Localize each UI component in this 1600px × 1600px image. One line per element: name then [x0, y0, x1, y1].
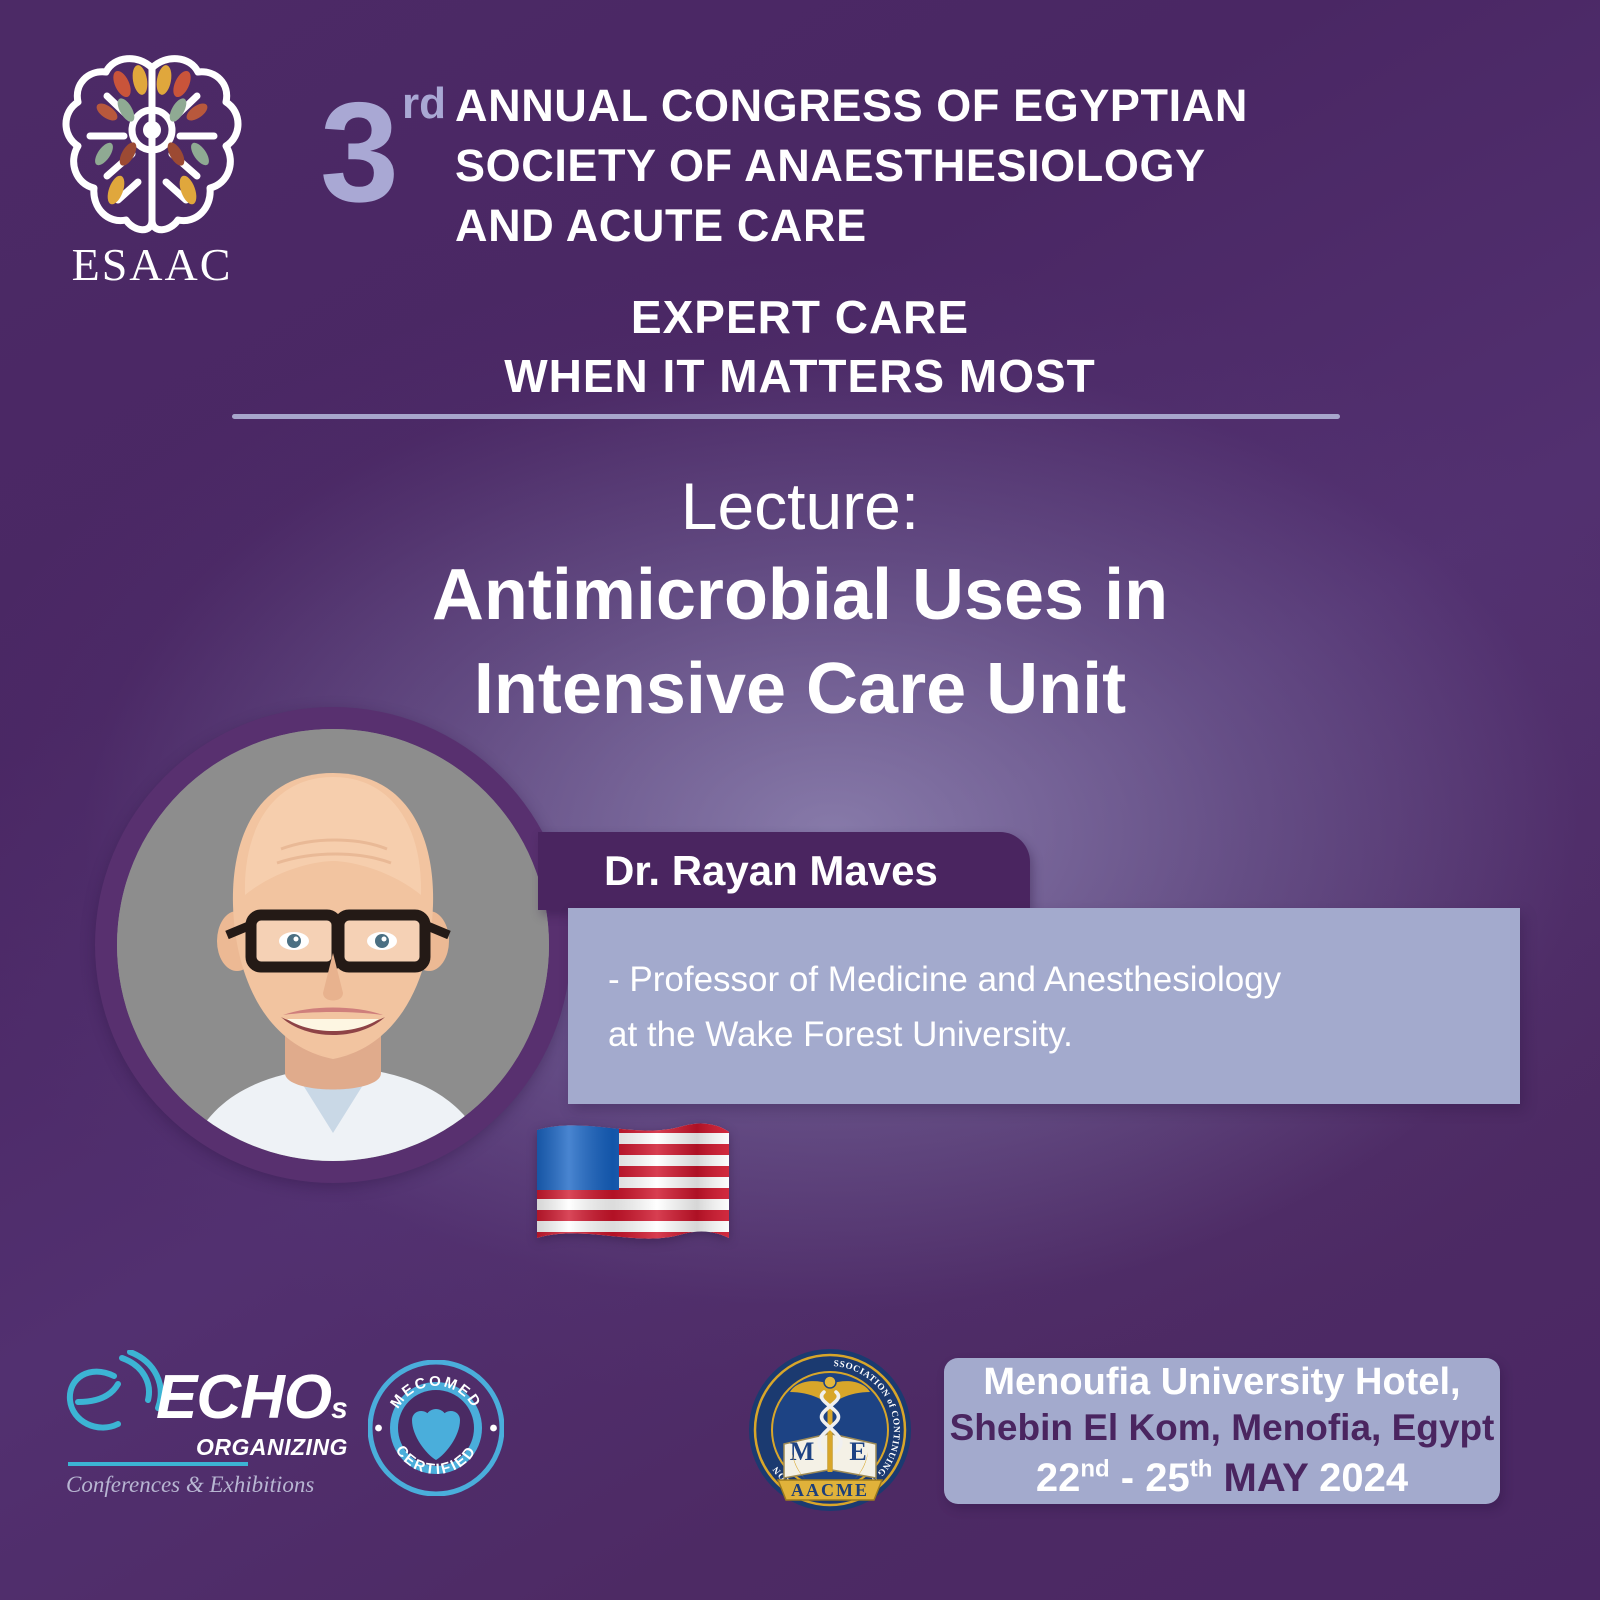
lecture-label: Lecture:	[0, 468, 1600, 546]
lecture-title-line-1: Antimicrobial Uses in	[0, 552, 1600, 640]
tagline-line-1: EXPERT CARE	[0, 288, 1600, 347]
date-end-day: 25	[1145, 1456, 1190, 1500]
date-start-suffix: nd	[1080, 1455, 1109, 1482]
conference-announcement-poster: ESAAC 3 rd ANNUAL CONGRESS OF EGYPTIAN S…	[0, 0, 1600, 1600]
speaker-bio-line-1: - Professor of Medicine and Anesthesiolo…	[608, 960, 1281, 999]
echos-organizer-logo: ECHOs ORGANIZING Conferences & Exhibitio…	[60, 1340, 330, 1505]
brain-logo-icon	[52, 50, 252, 240]
congress-tagline: EXPERT CARE WHEN IT MATTERS MOST	[0, 288, 1600, 406]
venue-and-date-box: Menoufia University Hotel, Shebin El Kom…	[944, 1358, 1500, 1504]
speaker-bio-text: - Professor of Medicine and Anesthesiolo…	[608, 952, 1488, 1063]
aacme-accreditation-seal: AMERICAN ASSOCIATION of CONTINUING MEDIC…	[748, 1348, 912, 1512]
echos-tagline: Conferences & Exhibitions	[66, 1472, 314, 1498]
speaker-name: Dr. Rayan Maves	[604, 847, 938, 895]
flag-graphic	[533, 1112, 733, 1260]
aacme-letter-m: M	[790, 1437, 815, 1466]
congress-title-line-1: ANNUAL CONGRESS OF EGYPTIAN	[455, 76, 1535, 136]
echos-role-label: ORGANIZING	[196, 1434, 348, 1461]
edition-suffix: rd	[402, 82, 446, 126]
date-year: 2024	[1319, 1456, 1408, 1500]
echos-underline	[68, 1462, 248, 1466]
speaker-portrait-illustration	[117, 729, 549, 1161]
lecture-heading: Lecture: Antimicrobial Uses in Intensive…	[0, 468, 1600, 734]
venue-location: Shebin El Kom, Menofia, Egypt	[950, 1405, 1495, 1450]
congress-title-line-2: SOCIETY OF ANAESTHESIOLOGY	[455, 136, 1535, 196]
lecture-title-line-2: Intensive Care Unit	[0, 646, 1600, 734]
date-end-suffix: th	[1190, 1455, 1213, 1482]
esaac-brain-logo: ESAAC	[52, 50, 252, 290]
united-states-flag-icon	[533, 1112, 733, 1260]
speaker-bio-line-2: at the Wake Forest University.	[608, 1015, 1073, 1054]
edition-ordinal: 3 rd	[320, 68, 470, 238]
mecomed-certified-badge: MECOMED CERTIFIED	[368, 1360, 504, 1496]
speaker-photo	[117, 729, 549, 1161]
congress-title: ANNUAL CONGRESS OF EGYPTIAN SOCIETY OF A…	[455, 76, 1535, 256]
event-dates: 22nd - 25th MAY 2024	[1036, 1453, 1408, 1503]
esaac-wordmark: ESAAC	[52, 238, 252, 291]
date-start-day: 22	[1036, 1456, 1081, 1500]
aacme-seal-icon: AMERICAN ASSOCIATION of CONTINUING MEDIC…	[748, 1348, 912, 1512]
tagline-line-2: WHEN IT MATTERS MOST	[0, 347, 1600, 406]
congress-title-line-3: AND ACUTE CARE	[455, 196, 1535, 256]
edition-number: 3	[320, 82, 395, 224]
echos-wordmark: ECHOs	[156, 1362, 347, 1433]
section-divider	[232, 414, 1340, 419]
echos-swoosh-icon	[60, 1350, 170, 1442]
date-dash: -	[1121, 1456, 1134, 1500]
aacme-letter-e: E	[849, 1437, 866, 1466]
speaker-bio-box: - Professor of Medicine and Anesthesiolo…	[568, 908, 1520, 1104]
aacme-banner-text: AACME	[791, 1480, 869, 1500]
mecomed-badge-icon: MECOMED CERTIFIED	[368, 1360, 504, 1496]
venue-name: Menoufia University Hotel,	[983, 1359, 1460, 1405]
date-month: MAY	[1224, 1456, 1309, 1500]
speaker-photo-ring	[95, 707, 571, 1183]
speaker-name-plate: Dr. Rayan Maves	[538, 832, 1030, 910]
